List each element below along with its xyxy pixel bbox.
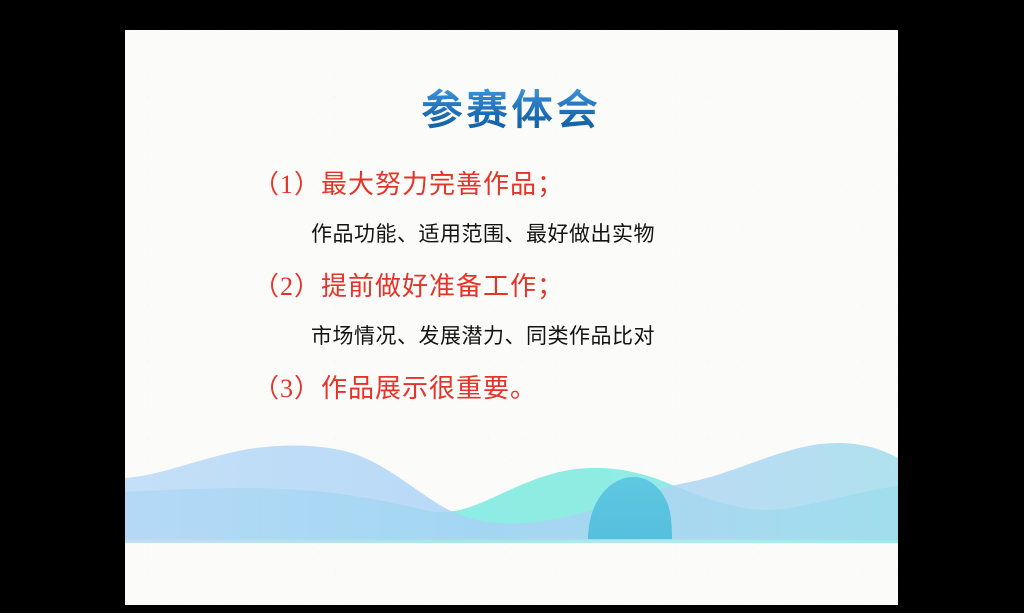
bullet-detail-2: 市场情况、发展潜力、同类作品比对: [125, 324, 898, 348]
slide-body: （1）最大努力完善作品； 作品功能、适用范围、最好做出实物 （2）提前做好准备工…: [125, 170, 898, 404]
wave-layer-teal: [125, 468, 898, 540]
bullet-item-1: （1）最大努力完善作品；: [125, 170, 898, 200]
bullet-item-2: （2）提前做好准备工作；: [125, 272, 898, 302]
presentation-slide: 参赛体会 （1）最大努力完善作品； 作品功能、适用范围、最好做出实物 （2）提前…: [125, 30, 898, 605]
wave-baseline-strip: [125, 539, 898, 543]
wave-layer-blue: [125, 443, 898, 540]
wave-svg: [125, 430, 898, 540]
wave-graphic: [125, 430, 898, 540]
slide-title-container: 参赛体会: [125, 88, 898, 133]
bullet-detail-1: 作品功能、适用范围、最好做出实物: [125, 222, 898, 246]
page-title: 参赛体会: [422, 88, 602, 133]
wave-dome-overlap: [588, 477, 672, 540]
bullet-item-3: （3）作品展示很重要。: [125, 374, 898, 404]
screen-letterbox: 参赛体会 （1）最大努力完善作品； 作品功能、适用范围、最好做出实物 （2）提前…: [0, 0, 1024, 613]
